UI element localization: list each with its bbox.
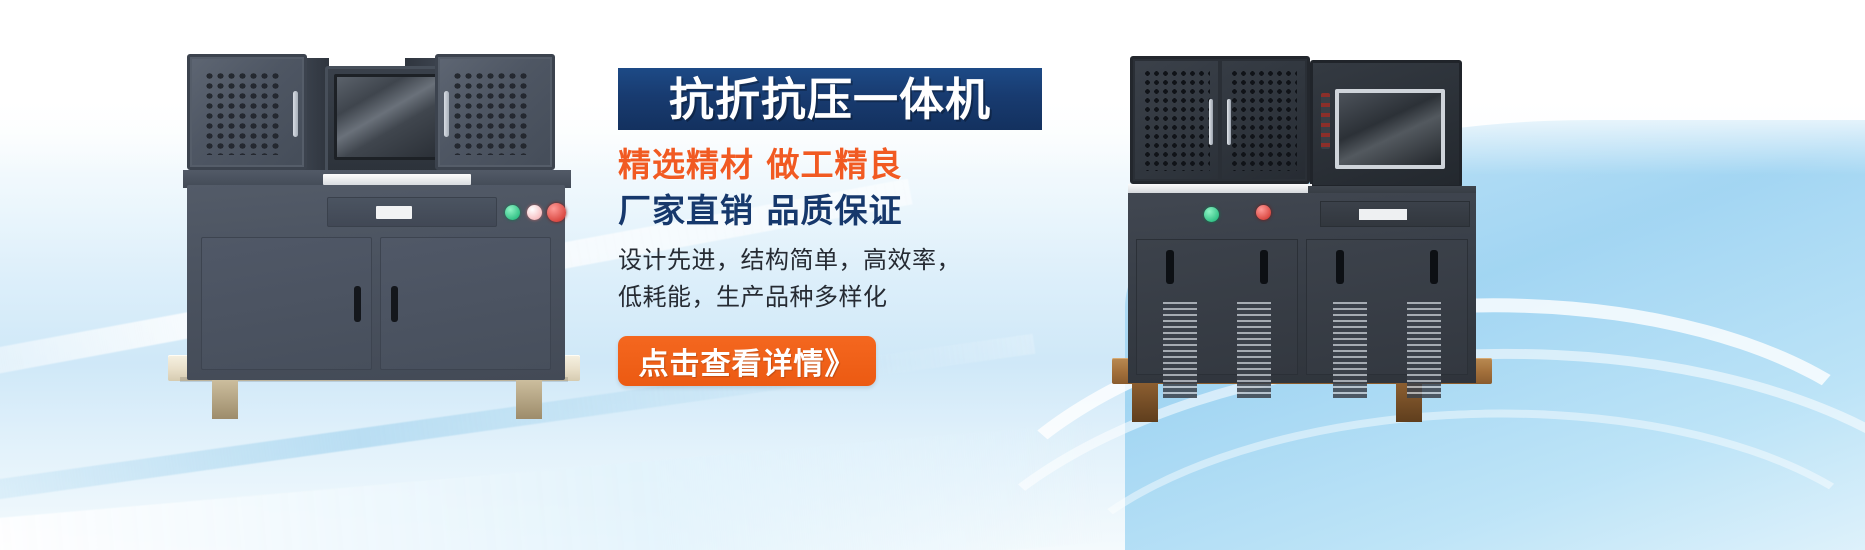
view-details-button[interactable]: 点击查看详情》 (618, 336, 876, 386)
background-swoosh-3 (0, 422, 1103, 550)
perforation-pattern (204, 71, 282, 155)
control-drawer (1320, 201, 1470, 227)
lower-door (201, 237, 372, 370)
machine-lower-body (1128, 193, 1476, 383)
cabinet-door (1133, 59, 1220, 181)
door-handle (1260, 250, 1268, 284)
drawer-label-plate (376, 206, 412, 219)
green-indicator-light (505, 205, 520, 220)
door-handle (391, 286, 398, 322)
green-indicator-light (1204, 207, 1219, 222)
perforation-pattern (1230, 69, 1297, 171)
monitor-control-knobs (1321, 93, 1330, 149)
lower-cabinet-doors (1136, 239, 1468, 375)
right-perforated-cabinet-door (435, 54, 555, 170)
door-handle (1336, 250, 1344, 284)
red-indicator-light (1256, 205, 1271, 220)
drawer-label-plate (1359, 209, 1407, 220)
door-handle (354, 286, 361, 322)
tagline-secondary: 厂家直销 品质保证 (618, 193, 1088, 229)
white-indicator-light (527, 205, 542, 220)
control-drawer (327, 197, 497, 227)
door-handle (1430, 250, 1438, 284)
crt-monitor-screen (1335, 89, 1445, 169)
left-product-machine (165, 48, 585, 438)
description-line-1: 设计先进，结构简单，高效率， (618, 242, 1088, 279)
machine-lower-body (187, 185, 565, 380)
cabinet-door (1220, 59, 1307, 181)
upper-perforated-cabinet (1130, 56, 1310, 184)
ventilation-louvre (1407, 302, 1441, 398)
banner-copy-block: 抗折抗压一体机 精选精材 做工精良 厂家直销 品质保证 设计先进，结构简单，高效… (618, 68, 1088, 386)
cabinet-handle (1227, 99, 1231, 145)
lower-door (1306, 239, 1468, 375)
page-title: 抗折抗压一体机 (669, 77, 991, 122)
red-emergency-stop-button (547, 203, 566, 222)
ventilation-louvre (1237, 302, 1271, 398)
control-display-housing (325, 66, 447, 174)
white-trim-strip (323, 174, 471, 185)
perforation-pattern (1143, 69, 1210, 171)
description-line-2: 低耗能，生产品种多样化 (618, 279, 1088, 316)
lower-door (1136, 239, 1298, 375)
white-trim-strip (1128, 184, 1312, 193)
cabinet-handle (293, 91, 298, 137)
perforation-pattern (452, 71, 530, 155)
right-product-machine (1120, 48, 1480, 438)
ventilation-louvre (1163, 302, 1197, 398)
view-details-label: 点击查看详情》 (639, 339, 856, 383)
product-promo-banner: 抗折抗压一体机 精选精材 做工精良 厂家直销 品质保证 设计先进，结构简单，高效… (0, 0, 1865, 550)
control-display-window (334, 74, 438, 160)
ventilation-louvre (1333, 302, 1367, 398)
lower-door (380, 237, 551, 370)
lower-cabinet-doors (201, 237, 551, 370)
monitor-housing (1310, 60, 1462, 188)
tagline-primary: 精选精材 做工精良 (618, 147, 1088, 183)
door-handle (1166, 250, 1174, 284)
cabinet-handle (1209, 99, 1213, 145)
cabinet-handle (444, 91, 449, 137)
left-perforated-cabinet-door (187, 54, 307, 170)
title-bar: 抗折抗压一体机 (618, 68, 1042, 130)
